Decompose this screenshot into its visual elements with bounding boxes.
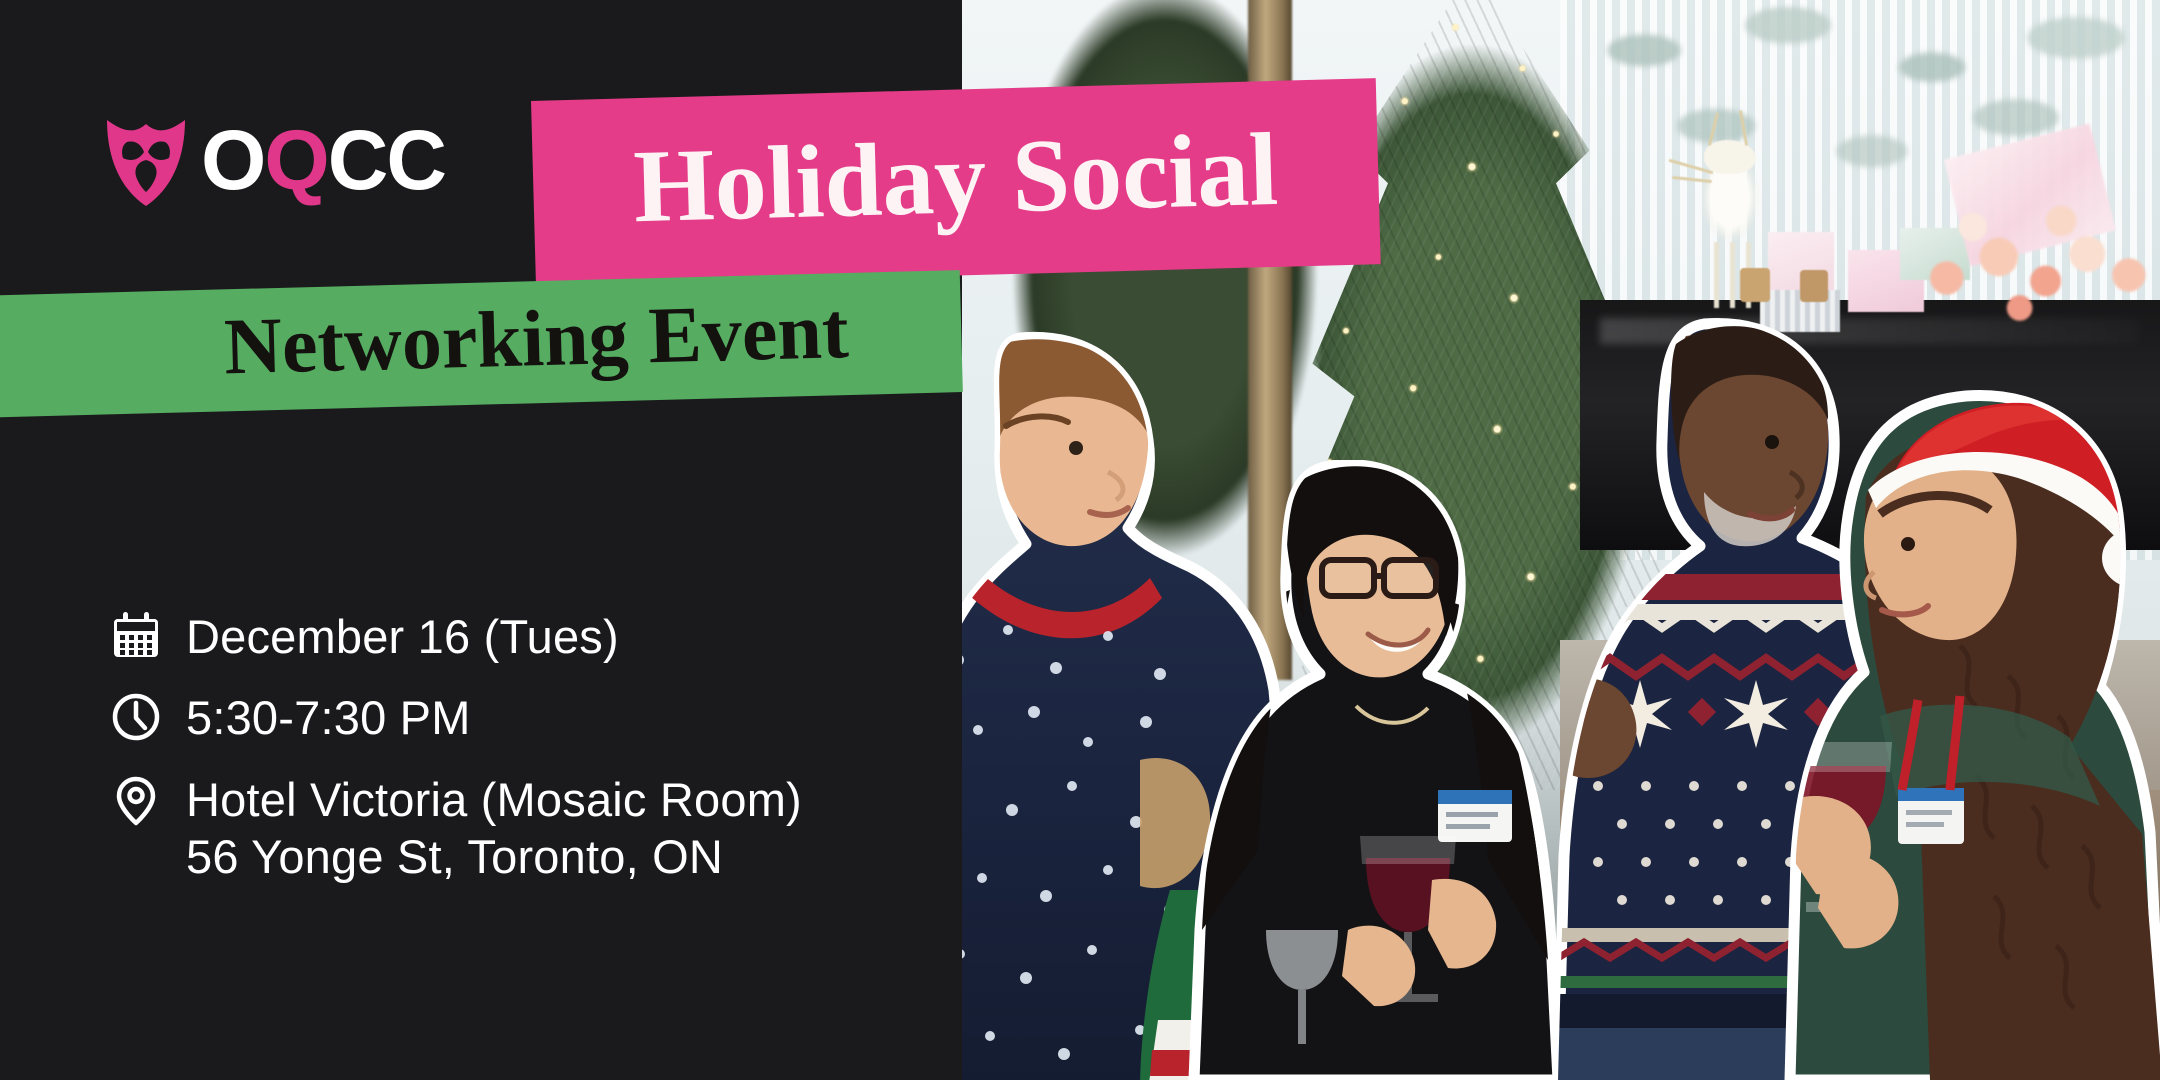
event-location-text: Hotel Victoria (Mosaic Room) 56 Yonge St… xyxy=(186,771,802,886)
reindeer-leg xyxy=(1714,242,1719,308)
event-time-text: 5:30-7:30 PM xyxy=(186,689,471,746)
logo-letters-cc: CC xyxy=(328,118,445,202)
headline-secondary-text: Networking Event xyxy=(83,291,849,397)
flower-arrangement xyxy=(1900,185,2160,335)
guest-woman-glasses xyxy=(1170,460,1590,1080)
wood-ornament xyxy=(1740,268,1770,302)
guest-woman-santa-hat xyxy=(1770,386,2160,1080)
trillium-shield-icon xyxy=(105,112,187,208)
clock-icon xyxy=(108,689,164,745)
headline-secondary-banner: Networking Event xyxy=(0,270,963,418)
headline-primary-banner: Holiday Social xyxy=(531,78,1381,287)
event-venue: Hotel Victoria (Mosaic Room) xyxy=(186,773,802,826)
event-address: 56 Yonge St, Toronto, ON xyxy=(186,828,802,885)
event-date-text: December 16 (Tues) xyxy=(186,608,619,665)
reindeer-leg xyxy=(1730,242,1735,308)
event-promo-banner: O Q CC Holiday Social Networking Event xyxy=(0,0,2160,1080)
event-date-row: December 16 (Tues) xyxy=(108,608,802,665)
calendar-icon xyxy=(108,608,164,664)
event-location-row: Hotel Victoria (Mosaic Room) 56 Yonge St… xyxy=(108,771,802,886)
event-details: December 16 (Tues) 5:30-7:30 PM Hotel Vi… xyxy=(108,608,802,885)
map-pin-icon xyxy=(108,773,164,829)
logo-letter-o: O xyxy=(201,118,264,202)
headline-primary-text: Holiday Social xyxy=(632,118,1279,247)
oqcc-wordmark: O Q CC xyxy=(201,118,445,202)
logo-letter-q: Q xyxy=(264,118,327,202)
event-time-row: 5:30-7:30 PM xyxy=(108,689,802,746)
oqcc-logo[interactable]: O Q CC xyxy=(105,112,445,208)
reindeer-figurine-head xyxy=(1704,140,1756,174)
wood-ornament xyxy=(1800,270,1828,302)
